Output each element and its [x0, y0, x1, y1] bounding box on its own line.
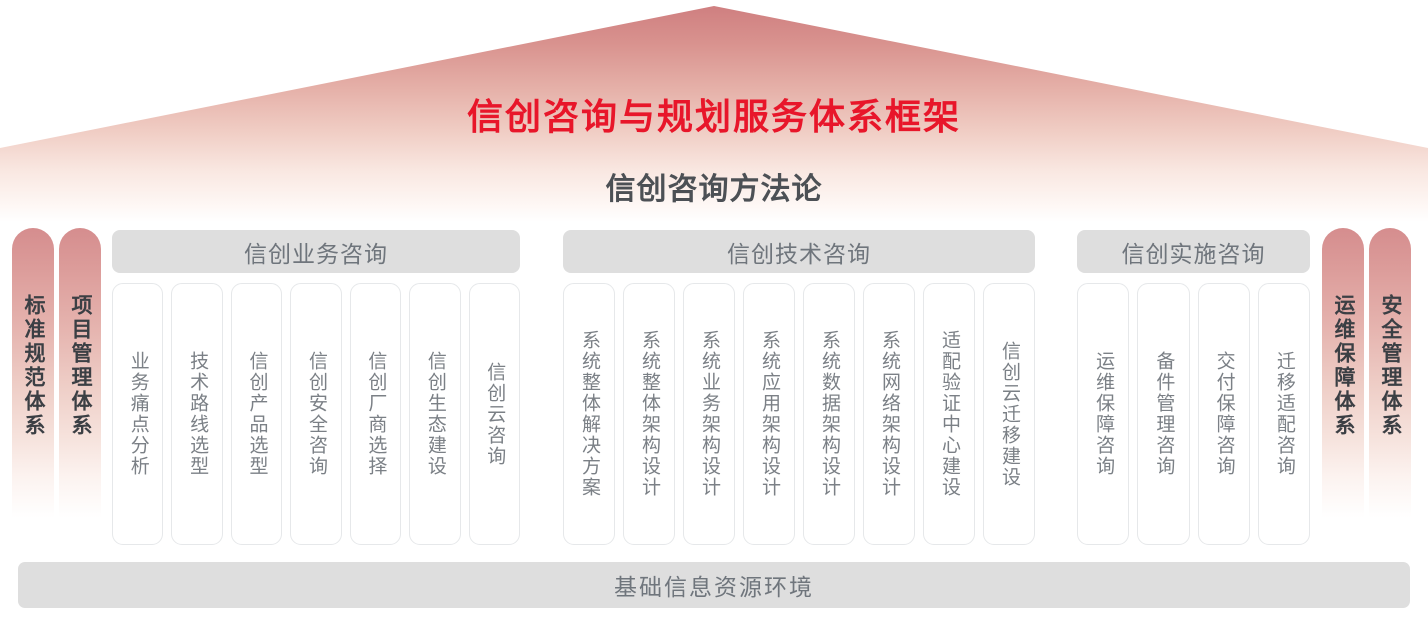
list-item[interactable]: 迁移适配咨询 — [1258, 283, 1310, 545]
pillar-security-management-system[interactable]: 安全管理体系 — [1369, 228, 1411, 518]
item-label: 信创安全咨询 — [299, 351, 333, 477]
list-item[interactable]: 业务痛点分析 — [112, 283, 163, 545]
list-item[interactable]: 交付保障咨询 — [1198, 283, 1250, 545]
item-label: 系统数据架构设计 — [812, 330, 846, 498]
list-item[interactable]: 信创生态建设 — [409, 283, 460, 545]
group-item-list: 业务痛点分析 技术路线选型 信创产品选型 信创安全咨询 信创厂商选择 信创生态建… — [112, 283, 520, 545]
pillar-label: 标准规范体系 — [12, 294, 54, 438]
item-label: 系统业务架构设计 — [692, 330, 726, 498]
list-item[interactable]: 系统应用架构设计 — [743, 283, 795, 545]
item-label: 系统网络架构设计 — [872, 330, 906, 498]
pillar-project-management-system[interactable]: 项目管理体系 — [59, 228, 101, 518]
item-label: 交付保障咨询 — [1207, 351, 1241, 477]
list-item[interactable]: 信创云迁移建设 — [983, 283, 1035, 545]
item-label: 技术路线选型 — [180, 351, 214, 477]
group-header[interactable]: 信创实施咨询 — [1077, 230, 1310, 273]
item-label: 运维保障咨询 — [1086, 351, 1120, 477]
list-item[interactable]: 信创产品选型 — [231, 283, 282, 545]
item-label: 系统整体架构设计 — [632, 330, 666, 498]
item-label: 信创产品选型 — [240, 351, 274, 477]
item-label: 业务痛点分析 — [121, 351, 155, 477]
list-item[interactable]: 系统整体解决方案 — [563, 283, 615, 545]
item-label: 信创云咨询 — [477, 362, 511, 467]
list-item[interactable]: 系统业务架构设计 — [683, 283, 735, 545]
group-technology-consulting: 信创技术咨询 系统整体解决方案 系统整体架构设计 系统业务架构设计 系统应用架构… — [563, 230, 1035, 545]
pillar-ops-guarantee-system[interactable]: 运维保障体系 — [1322, 228, 1364, 518]
group-header[interactable]: 信创技术咨询 — [563, 230, 1035, 273]
group-header[interactable]: 信创业务咨询 — [112, 230, 520, 273]
item-label: 适配验证中心建设 — [932, 330, 966, 498]
group-implementation-consulting: 信创实施咨询 运维保障咨询 备件管理咨询 交付保障咨询 迁移适配咨询 — [1077, 230, 1310, 545]
list-item[interactable]: 技术路线选型 — [171, 283, 222, 545]
list-item[interactable]: 信创云咨询 — [469, 283, 520, 545]
item-label: 信创厂商选择 — [358, 351, 392, 477]
list-item[interactable]: 信创厂商选择 — [350, 283, 401, 545]
item-label: 信创生态建设 — [418, 351, 452, 477]
item-label: 迁移适配咨询 — [1267, 351, 1301, 477]
group-item-list: 运维保障咨询 备件管理咨询 交付保障咨询 迁移适配咨询 — [1077, 283, 1310, 545]
list-item[interactable]: 系统整体架构设计 — [623, 283, 675, 545]
item-label: 信创云迁移建设 — [992, 341, 1026, 488]
group-item-list: 系统整体解决方案 系统整体架构设计 系统业务架构设计 系统应用架构设计 系统数据… — [563, 283, 1035, 545]
pillar-standard-spec-system[interactable]: 标准规范体系 — [12, 228, 54, 518]
list-item[interactable]: 系统数据架构设计 — [803, 283, 855, 545]
foundation-bar[interactable]: 基础信息资源环境 — [18, 562, 1410, 608]
list-item[interactable]: 系统网络架构设计 — [863, 283, 915, 545]
item-label: 系统整体解决方案 — [572, 330, 606, 498]
pillar-label: 安全管理体系 — [1369, 294, 1411, 438]
item-label: 系统应用架构设计 — [752, 330, 786, 498]
pillar-label: 运维保障体系 — [1322, 294, 1364, 438]
page-title: 信创咨询与规划服务体系框架 — [0, 95, 1428, 139]
list-item[interactable]: 运维保障咨询 — [1077, 283, 1129, 545]
list-item[interactable]: 备件管理咨询 — [1137, 283, 1189, 545]
list-item[interactable]: 适配验证中心建设 — [923, 283, 975, 545]
group-business-consulting: 信创业务咨询 业务痛点分析 技术路线选型 信创产品选型 信创安全咨询 信创厂商选… — [112, 230, 520, 545]
pillar-label: 项目管理体系 — [59, 294, 101, 438]
item-label: 备件管理咨询 — [1146, 351, 1180, 477]
list-item[interactable]: 信创安全咨询 — [290, 283, 341, 545]
page-subtitle: 信创咨询方法论 — [0, 170, 1428, 210]
